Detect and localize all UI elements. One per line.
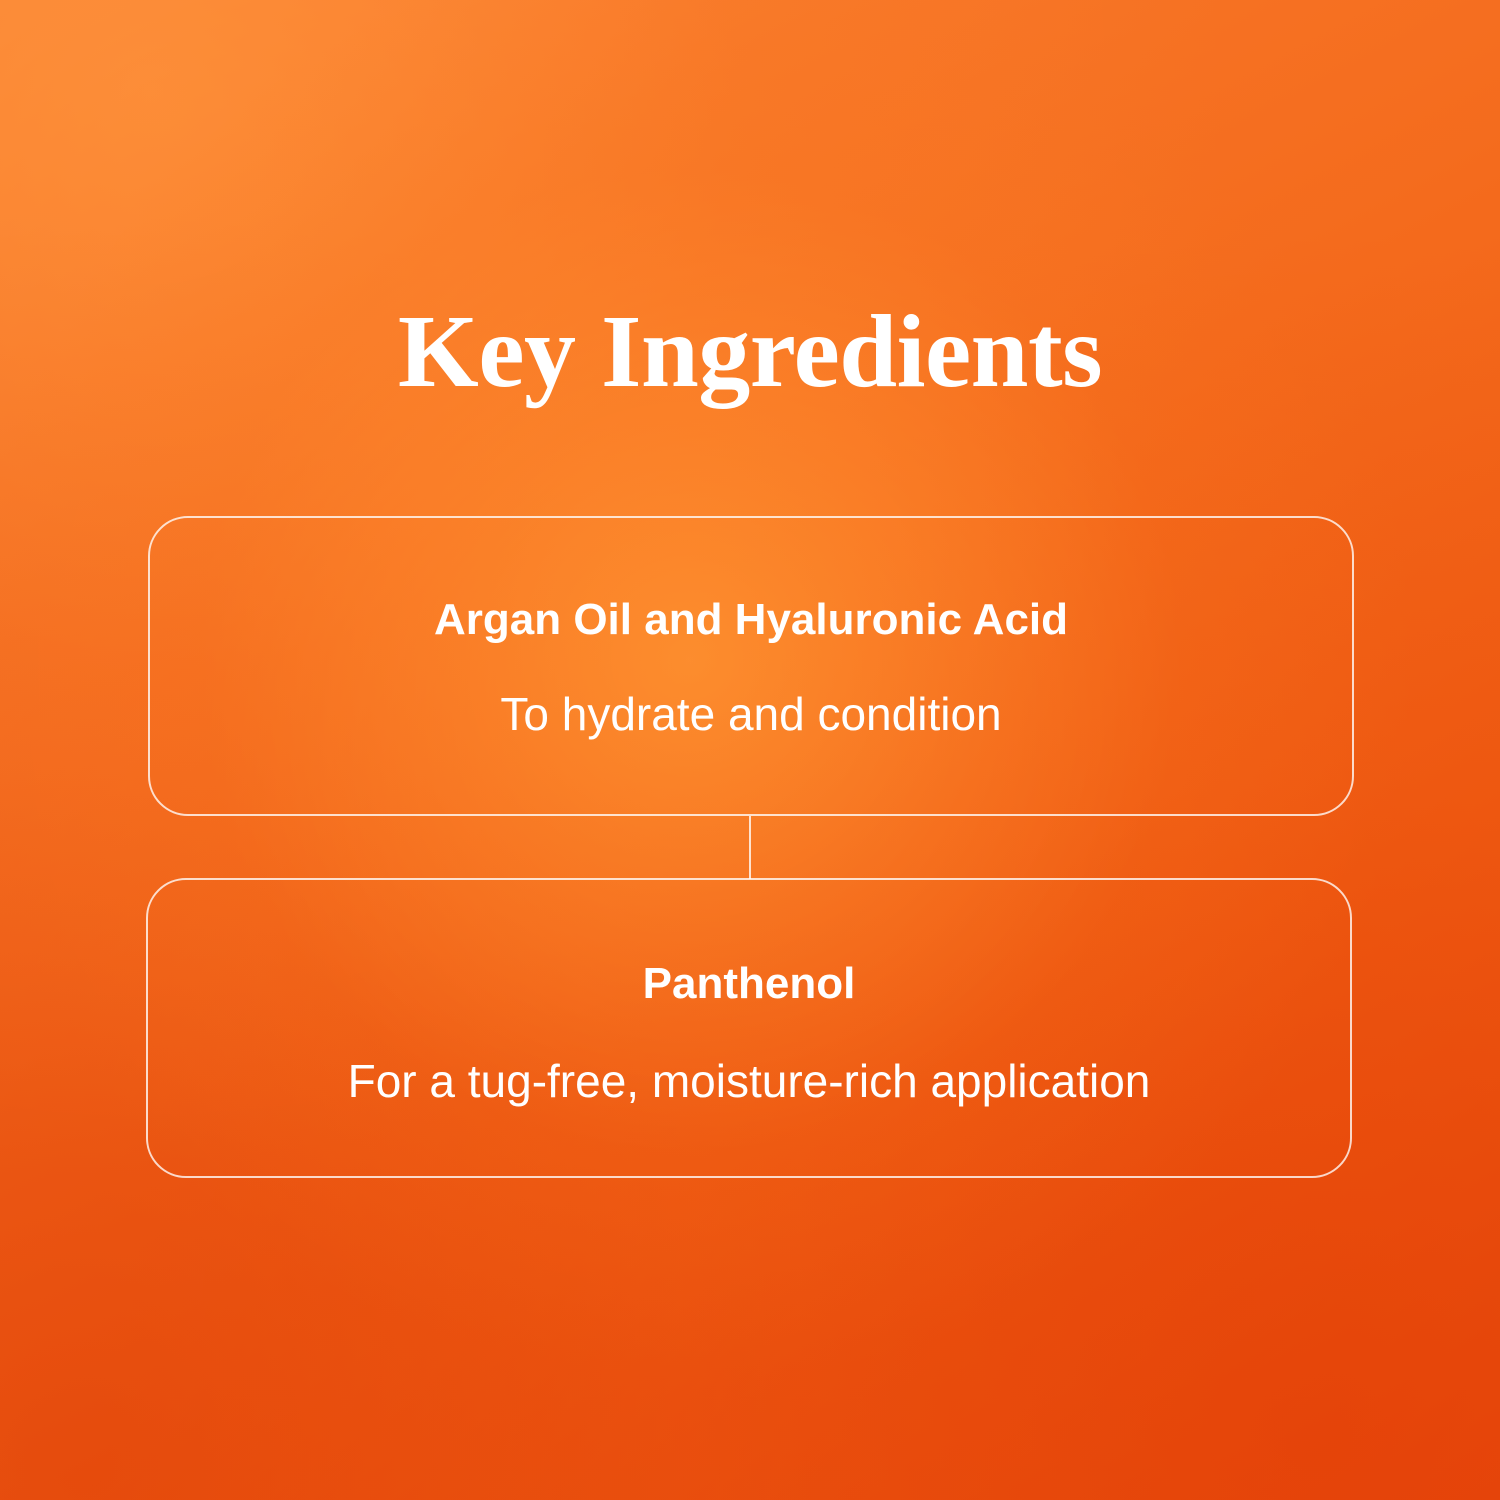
ingredient-card-subtext: To hydrate and condition <box>500 691 1001 737</box>
ingredient-card-heading: Panthenol <box>643 962 856 1006</box>
key-ingredients-infographic: Key Ingredients Argan Oil and Hyaluronic… <box>0 0 1500 1500</box>
ingredient-card-heading: Argan Oil and Hyaluronic Acid <box>434 598 1068 642</box>
ingredient-card-argan-oil-hyaluronic-acid: Argan Oil and Hyaluronic Acid To hydrate… <box>148 516 1354 816</box>
ingredient-card-subtext: For a tug-free, moisture-rich applicatio… <box>348 1058 1151 1104</box>
page-title: Key Ingredients <box>0 300 1500 404</box>
card-connector-line <box>749 816 751 879</box>
ingredient-card-panthenol: Panthenol For a tug-free, moisture-rich … <box>146 878 1352 1178</box>
